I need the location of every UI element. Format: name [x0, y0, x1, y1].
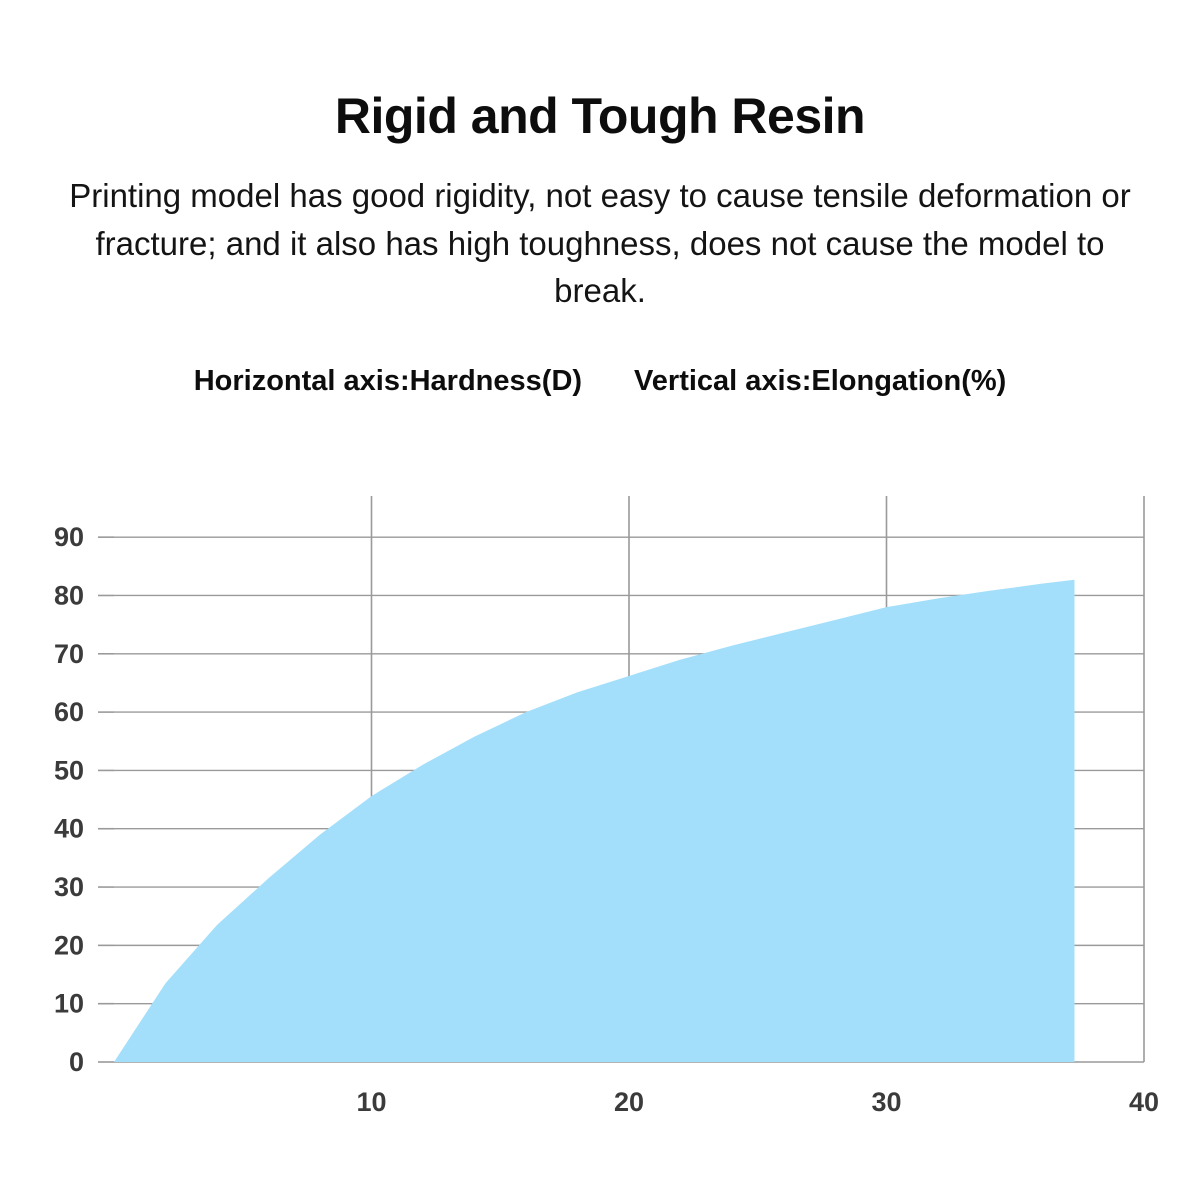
- y-axis-tick-labels: 0102030405060708090: [54, 522, 84, 1077]
- page-root: Rigid and Tough Resin Printing model has…: [0, 0, 1200, 1200]
- y-tick-label-10: 10: [54, 989, 84, 1019]
- x-tick-label-40: 40: [1129, 1087, 1159, 1117]
- y-tick-label-90: 90: [54, 522, 84, 552]
- page-title: Rigid and Tough Resin: [0, 0, 1200, 144]
- series-group: [114, 580, 1074, 1062]
- x-tick-label-10: 10: [356, 1087, 386, 1117]
- y-tick-label-20: 20: [54, 930, 84, 960]
- page-description: Printing model has good rigidity, not ea…: [55, 144, 1145, 315]
- y-tick-label-30: 30: [54, 872, 84, 902]
- x-axis-tick-labels: 10203040: [356, 1087, 1159, 1117]
- chart-area-plot: 0102030405060708090 10203040: [0, 470, 1200, 1170]
- y-tick-label-60: 60: [54, 697, 84, 727]
- header-block: Rigid and Tough Resin Printing model has…: [0, 0, 1200, 398]
- y-tick-label-50: 50: [54, 755, 84, 785]
- elongation-hardness-area-chart: 0102030405060708090 10203040: [0, 470, 1200, 1170]
- x-tick-label-30: 30: [871, 1087, 901, 1117]
- y-tick-label-0: 0: [69, 1047, 84, 1077]
- y-tick-label-70: 70: [54, 639, 84, 669]
- axis-legend: Horizontal axis:Hardness(D) Vertical axi…: [90, 315, 1110, 398]
- axis-note-horizontal: Horizontal axis:Hardness(D): [194, 365, 582, 398]
- x-tick-label-20: 20: [614, 1087, 644, 1117]
- y-tick-label-40: 40: [54, 814, 84, 844]
- y-tick-label-80: 80: [54, 580, 84, 610]
- area-series-0: [114, 580, 1074, 1062]
- axis-note-vertical: Vertical axis:Elongation(%): [634, 365, 1006, 398]
